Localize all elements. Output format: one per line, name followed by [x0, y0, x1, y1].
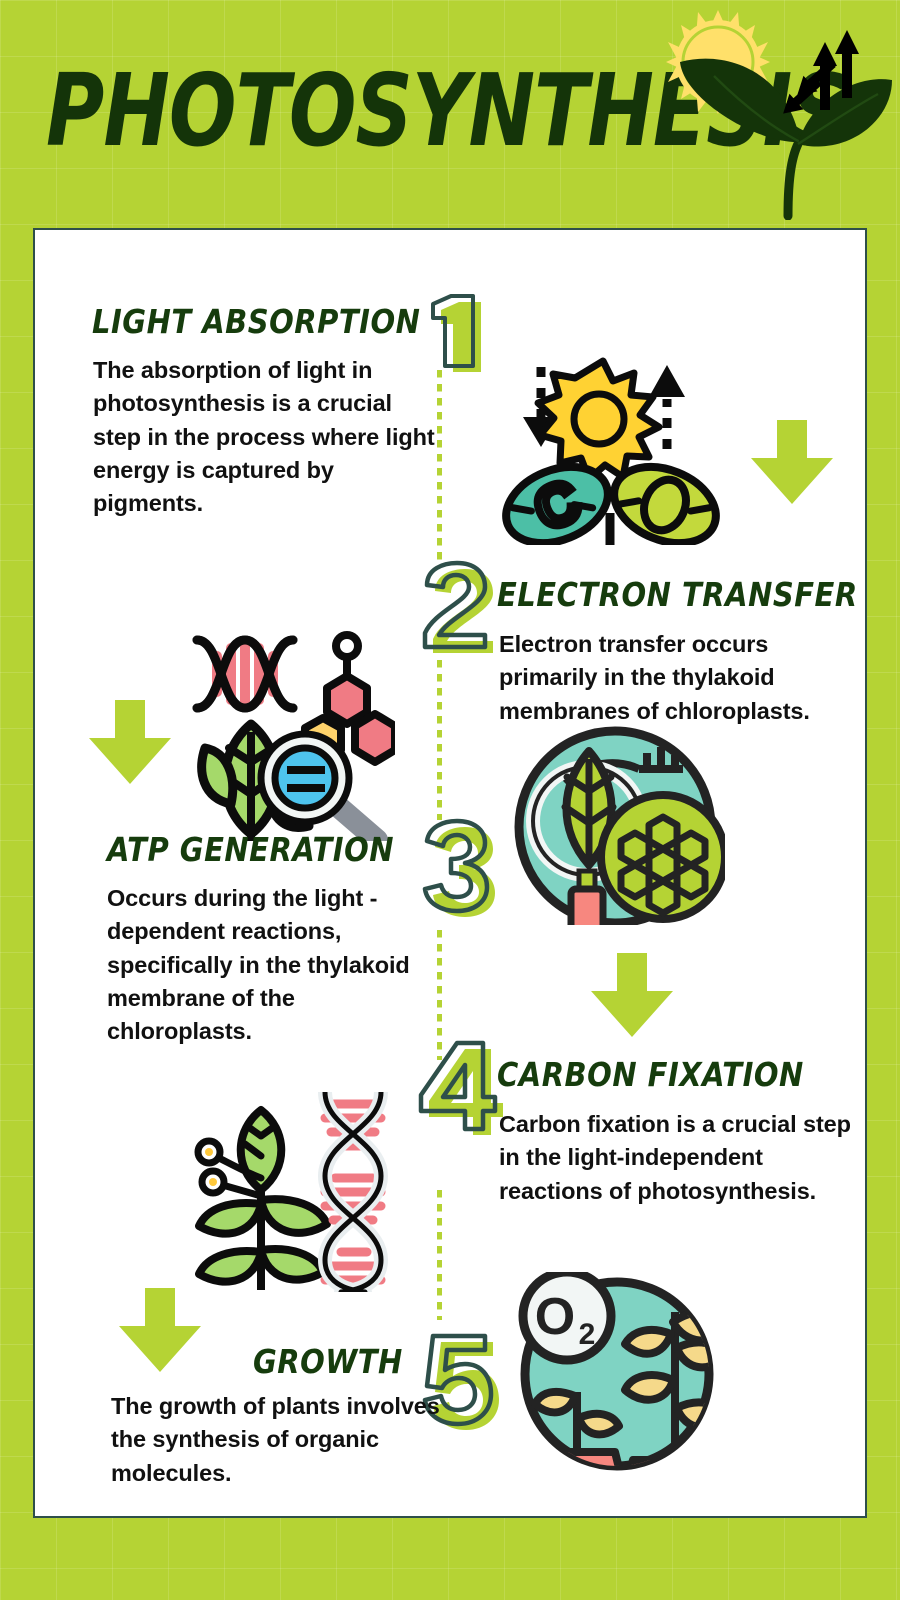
- step-number-4: [411, 1035, 485, 1131]
- illustration-dna-leaf-molecule-magnifier: [175, 626, 395, 841]
- illustration-oxygen-seedlings: O 2: [505, 1272, 725, 1472]
- step-body-growth: The growth of plants involves the synthe…: [111, 1390, 459, 1490]
- flow-connector-line: [437, 1190, 442, 1320]
- step-title-growth: GROWTH: [253, 1342, 403, 1381]
- step-title-light-absorption: LIGHT ABSORPTION: [92, 302, 420, 341]
- illustration-co2-sun-leaves: C: [497, 355, 727, 545]
- header: PHOTOSYNTHESIS: [0, 0, 900, 228]
- label-oxygen: O: [535, 1288, 575, 1346]
- sun-icon: [538, 361, 659, 479]
- illustration-plant-dna-helix: [175, 1092, 395, 1292]
- step-number-1: [415, 280, 489, 376]
- step-number-2: [413, 555, 487, 651]
- flow-arrow-2: [85, 700, 175, 791]
- step-body-carbon-fixation: Carbon fixation is a crucial step in the…: [499, 1108, 861, 1208]
- arrow-head-up: [649, 365, 685, 397]
- label-oxygen-subscript: 2: [579, 1318, 596, 1351]
- step-title-carbon-fixation: CARBON FIXATION: [497, 1055, 804, 1094]
- honeycomb-icon: [601, 795, 725, 919]
- flow-arrow-3: [587, 953, 677, 1044]
- step-title-electron-transfer: ELECTRON TRANSFER: [497, 575, 858, 614]
- plant-icon: [198, 1110, 327, 1290]
- dna-helix-icon: [325, 1092, 381, 1292]
- dna-icon: [197, 640, 293, 708]
- flow-arrow-1: [747, 420, 837, 511]
- step-body-light-absorption: The absorption of light in photosynthesi…: [93, 354, 441, 521]
- step-body-electron-transfer: Electron transfer occurs primarily in th…: [499, 628, 871, 728]
- header-illustration: [640, 8, 900, 225]
- flow-connector-line: [437, 660, 442, 820]
- step-title-atp-generation: ATP GENERATION: [107, 830, 394, 869]
- oxygen-label-bubble: O 2: [523, 1272, 611, 1360]
- flow-arrow-4: [115, 1288, 205, 1379]
- step-body-atp-generation: Occurs during the light -dependent react…: [107, 882, 437, 1049]
- illustration-leaf-magnifier-honeycomb: [505, 725, 725, 925]
- content-card: LIGHT ABSORPTION The absorption of light…: [33, 228, 867, 1518]
